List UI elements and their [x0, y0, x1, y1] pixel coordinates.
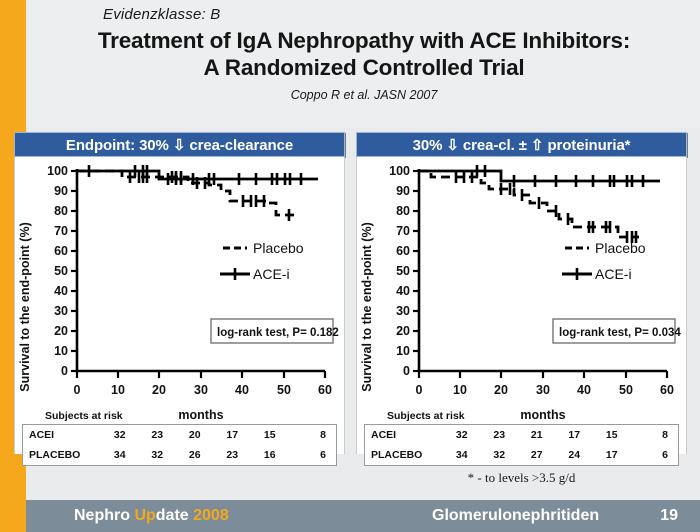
citation-label: Coppo R et al. JASN 2007 — [28, 88, 700, 102]
svg-text:50: 50 — [54, 264, 68, 278]
svg-text:80: 80 — [396, 204, 410, 218]
title-panel: Evidenzklasse: B Treatment of IgA Nephro… — [28, 0, 700, 128]
svg-text:100: 100 — [389, 164, 410, 178]
risk-cell: 23 — [139, 429, 177, 441]
table-row: ACEI 32 23 20 17 15 8 — [23, 425, 336, 445]
risk-cell: 17 — [593, 449, 631, 461]
svg-text:20: 20 — [152, 383, 166, 397]
legend-label-acei: ACE-i — [595, 266, 632, 282]
risk-row-label: PLACEBO — [365, 449, 443, 461]
svg-text:50: 50 — [619, 383, 633, 397]
footer-brand: Nephro Update 2008 — [74, 507, 229, 525]
svg-text:90: 90 — [54, 184, 68, 198]
svg-text:50: 50 — [277, 383, 291, 397]
svg-text:90: 90 — [396, 184, 410, 198]
svg-text:30: 30 — [536, 383, 550, 397]
svg-text:40: 40 — [577, 383, 591, 397]
footer-brand-year: 2008 — [193, 507, 229, 524]
risk-cell: 21 — [518, 429, 556, 441]
svg-text:60: 60 — [318, 383, 332, 397]
footer-page-number: 19 — [660, 507, 678, 525]
svg-text:50: 50 — [396, 264, 410, 278]
logrank-box-right: log-rank test, P= 0.034 — [553, 319, 681, 343]
risk-cell: 20 — [176, 429, 214, 441]
y-axis-title: Survival to the end-point (%) — [360, 222, 374, 391]
panel-left-chart: Survival to the end-point (%) 1009080 — [14, 157, 345, 454]
legend-label-acei: ACE-i — [253, 266, 290, 282]
x-axis-title: months — [178, 408, 223, 422]
svg-text:10: 10 — [54, 344, 68, 358]
subjects-at-risk-label: Subjects at risk — [387, 410, 465, 422]
risk-cell: 34 — [443, 449, 481, 461]
svg-text:60: 60 — [660, 383, 674, 397]
risk-cell: 32 — [139, 449, 177, 461]
risk-table-right: ACEI 32 23 21 17 15 8 PLACEBO 34 32 27 2… — [364, 424, 679, 466]
table-row: PLACEBO 34 32 27 24 17 6 — [365, 445, 678, 465]
y-axis-title: Survival to the end-point (%) — [18, 222, 32, 391]
panel-left: Endpoint: 30% ⇩ crea-clearance Survival … — [14, 132, 345, 490]
risk-table-left: ACEI 32 23 20 17 15 8 PLACEBO 34 32 26 2… — [22, 424, 337, 466]
svg-text:30: 30 — [54, 304, 68, 318]
logrank-box-left: log-rank test, P= 0.182 — [211, 319, 339, 343]
risk-cell: 15 — [593, 429, 631, 441]
svg-text:100: 100 — [47, 164, 68, 178]
slide-root: Evidenzklasse: B Treatment of IgA Nephro… — [0, 0, 700, 532]
legend-label-placebo: Placebo — [595, 240, 646, 256]
risk-row-label: PLACEBO — [23, 449, 101, 461]
risk-cell: 32 — [481, 449, 519, 461]
slide-footer: Nephro Update 2008 Glomerulonephritiden … — [26, 500, 700, 532]
svg-text:30: 30 — [396, 304, 410, 318]
panel-right: 30% ⇩ crea-cl. ± ⇧ proteinuria* Survival… — [356, 132, 687, 490]
x-axis-title: months — [520, 408, 565, 422]
evidence-class-label: Evidenzklasse: B — [103, 6, 220, 23]
risk-row-label: ACEI — [23, 429, 101, 441]
svg-text:20: 20 — [54, 324, 68, 338]
risk-cell: 8 — [289, 429, 337, 441]
risk-cell: 16 — [251, 449, 289, 461]
svg-text:60: 60 — [54, 244, 68, 258]
risk-cell: 34 — [101, 449, 139, 461]
panel-left-banner: Endpoint: 30% ⇩ crea-clearance — [14, 132, 345, 157]
footnote-label: * - to levels >3.5 g/d — [356, 470, 687, 486]
page-title-line1: Treatment of IgA Nephropathy with ACE In… — [28, 27, 700, 54]
table-row: ACEI 32 23 21 17 15 8 — [365, 425, 678, 445]
svg-text:30: 30 — [194, 383, 208, 397]
footer-brand-up: Up — [134, 507, 155, 524]
risk-cell: 6 — [289, 449, 337, 461]
table-row: PLACEBO 34 32 26 23 16 6 — [23, 445, 336, 465]
panel-right-banner: 30% ⇩ crea-cl. ± ⇧ proteinuria* — [356, 132, 687, 157]
svg-text:10: 10 — [396, 344, 410, 358]
svg-text:70: 70 — [396, 224, 410, 238]
risk-cell: 17 — [214, 429, 252, 441]
risk-cell: 15 — [251, 429, 289, 441]
svg-text:40: 40 — [235, 383, 249, 397]
footer-brand-part2: date — [156, 507, 193, 524]
risk-cell: 17 — [556, 429, 594, 441]
footer-brand-part1: Nephro — [74, 507, 134, 524]
risk-cell: 26 — [176, 449, 214, 461]
svg-text:0: 0 — [74, 383, 81, 397]
svg-text:60: 60 — [396, 244, 410, 258]
logrank-text: log-rank test, P= 0.034 — [559, 327, 681, 339]
svg-text:20: 20 — [396, 324, 410, 338]
footer-topic: Glomerulonephritiden — [432, 507, 599, 525]
subjects-at-risk-label: Subjects at risk — [45, 410, 123, 422]
svg-text:80: 80 — [54, 204, 68, 218]
svg-text:0: 0 — [416, 383, 423, 397]
risk-cell: 32 — [101, 429, 139, 441]
risk-row-label: ACEI — [365, 429, 443, 441]
svg-text:70: 70 — [54, 224, 68, 238]
risk-cell: 23 — [214, 449, 252, 461]
risk-cell: 23 — [481, 429, 519, 441]
risk-cell: 27 — [518, 449, 556, 461]
logrank-text: log-rank test, P= 0.182 — [217, 327, 339, 339]
svg-text:0: 0 — [61, 364, 68, 378]
svg-text:40: 40 — [396, 284, 410, 298]
km-plot-right: Survival to the end-point (%) 1009080 70… — [357, 157, 686, 454]
risk-cell: 24 — [556, 449, 594, 461]
page-title-line2: A Randomized Controlled Trial — [28, 54, 700, 81]
risk-cell: 32 — [443, 429, 481, 441]
page-title: Treatment of IgA Nephropathy with ACE In… — [28, 27, 700, 81]
risk-cell: 8 — [631, 429, 679, 441]
svg-text:10: 10 — [111, 383, 125, 397]
risk-cell: 6 — [631, 449, 679, 461]
svg-text:20: 20 — [494, 383, 508, 397]
km-plot-left: Survival to the end-point (%) 1009080 — [15, 157, 344, 454]
svg-text:10: 10 — [453, 383, 467, 397]
legend-label-placebo: Placebo — [253, 240, 304, 256]
svg-text:0: 0 — [403, 364, 410, 378]
svg-text:40: 40 — [54, 284, 68, 298]
panel-right-chart: Survival to the end-point (%) 1009080 70… — [356, 157, 687, 454]
